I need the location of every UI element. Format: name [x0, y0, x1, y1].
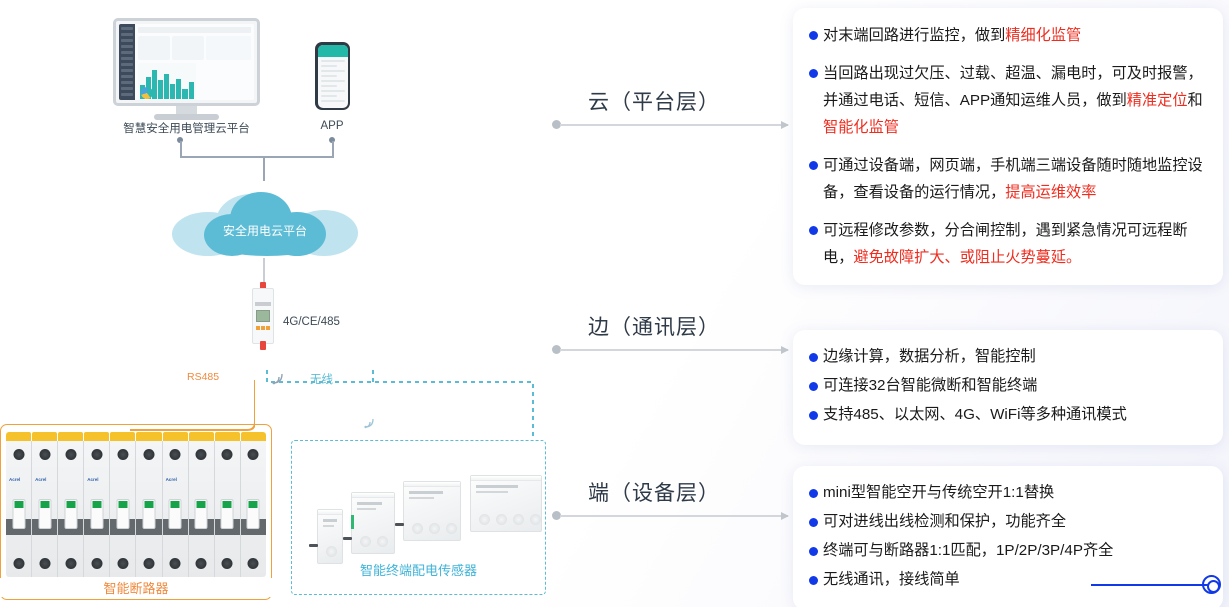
feature-item: 终端可与断路器1:1匹配，1P/2P/3P/4P齐全	[809, 538, 1205, 564]
feature-item: 支持485、以太网、4G、WiFi等多种通讯模式	[809, 402, 1205, 428]
normal-text: 和	[1188, 92, 1203, 109]
bullet-icon	[809, 518, 818, 527]
connector-cloud-to-gateway	[263, 258, 265, 284]
gateway-body	[252, 288, 274, 344]
bullet-icon	[809, 576, 818, 585]
feature-item-text: mini型智能空开与传统空开1:1替换	[823, 480, 1205, 506]
feature-item-text: 无线通讯，接线简单	[823, 567, 1205, 593]
feature-item: 边缘计算，数据分析，智能控制	[809, 344, 1205, 370]
connector-line-horizontal	[180, 156, 334, 158]
bullet-icon	[809, 353, 818, 362]
gateway-buttons	[256, 326, 270, 330]
wifi-signal-icon-secondary	[364, 418, 376, 429]
bullet-icon	[809, 31, 818, 40]
feature-item-text: 可对进线出线检测和保护，功能齐全	[823, 509, 1205, 535]
panel-cloud-features: 对末端回路进行监控，做到精细化监管当回路出现过欠压、过载、超温、漏电时，可及时报…	[793, 8, 1223, 285]
stage-arrow-device	[560, 515, 788, 517]
phone-screen	[318, 45, 348, 108]
highlight-text: 精细化监管	[1005, 27, 1081, 44]
bullet-icon	[809, 489, 818, 498]
normal-text: 支持485、以太网、4G、WiFi等多种通讯模式	[823, 406, 1127, 423]
dashboard-panel-blank	[198, 63, 252, 100]
feature-item-text: 可远程修改参数，分合闸控制，遇到紧急情况可远程断电，避免故障扩大、或阻止火势蔓延…	[823, 217, 1205, 271]
phone-header	[318, 45, 348, 57]
bullet-icon	[809, 382, 818, 391]
feature-item-text: 当回路出现过欠压、过载、超温、漏电时，可及时报警，并通过电话、短信、APP通知运…	[823, 60, 1205, 141]
feature-item: 当回路出现过欠压、过载、超温、漏电时，可及时报警，并通过电话、短信、APP通知运…	[809, 60, 1205, 141]
normal-text: 边缘计算，数据分析，智能控制	[823, 348, 1036, 365]
app-phone-image	[315, 42, 350, 110]
corner-accent-line	[1091, 584, 1209, 586]
connector-line-to-cloud	[263, 156, 265, 181]
gateway-terminal-bottom	[260, 341, 266, 350]
sensor-caption: 智能终端配电传感器	[291, 560, 546, 579]
bullet-icon	[809, 161, 818, 170]
bullet-icon	[809, 226, 818, 235]
bullet-icon	[809, 69, 818, 78]
wireless-label: 无线	[310, 371, 333, 387]
normal-text: 可对进线出线检测和保护，功能齐全	[823, 513, 1066, 530]
feature-item-text: 可通过设备端，网页端，手机端三端设备随时随地监控设备，查看设备的运行情况，提高运…	[823, 152, 1205, 206]
bullet-icon	[809, 411, 818, 420]
gateway-device-image	[252, 288, 274, 344]
feature-item-text: 支持485、以太网、4G、WiFi等多种通讯模式	[823, 402, 1205, 428]
smart-breaker-image: Acrel Acrel Acrel Acrel	[6, 432, 266, 577]
rs485-label: RS485	[187, 371, 219, 383]
feature-item: 可远程修改参数，分合闸控制，遇到紧急情况可远程断电，避免故障扩大、或阻止火势蔓延…	[809, 217, 1205, 271]
dashboard-topbar	[138, 27, 251, 33]
feature-item-text: 边缘计算，数据分析，智能控制	[823, 344, 1205, 370]
stage-label-cloud: 云（平台层）	[588, 86, 720, 116]
dashboard-pie-chart	[141, 87, 153, 99]
highlight-text: 避免故障扩大、或阻止火势蔓延。	[853, 249, 1081, 266]
dashboard-charts	[138, 63, 251, 100]
monitor-screen	[113, 18, 260, 106]
feature-item: 可对进线出线检测和保护，功能齐全	[809, 509, 1205, 535]
normal-text: 可连接32台智能微断和智能终端	[823, 377, 1037, 394]
cloud-shape: 安全用电云平台	[172, 180, 358, 256]
gateway-lcd-screen	[256, 310, 270, 322]
monitor-dashboard	[119, 24, 254, 100]
infographic-root: 智慧安全用电管理云平台 APP 安全用电云平台 4G/CE/485	[0, 0, 1229, 607]
dashboard-bar-chart	[138, 63, 196, 100]
highlight-text: 智能化监管	[823, 119, 899, 136]
normal-text: 终端可与断路器1:1匹配，1P/2P/3P/4P齐全	[823, 542, 1113, 559]
highlight-text: 提高运维效率	[1005, 184, 1096, 201]
highlight-text: 精准定位	[1127, 92, 1188, 109]
feature-item: 可通过设备端，网页端，手机端三端设备随时随地监控设备，查看设备的运行情况，提高运…	[809, 152, 1205, 206]
stage-arrow-cloud	[560, 124, 788, 126]
wireless-connection-path	[263, 368, 548, 448]
bullet-icon	[809, 547, 818, 556]
app-caption: APP	[300, 120, 364, 132]
dashboard-body	[135, 24, 254, 100]
platform-caption: 智慧安全用电管理云平台	[95, 120, 278, 136]
normal-text: 无线通讯，接线简单	[823, 571, 960, 588]
dashboard-kpi-cards	[138, 36, 251, 60]
cloud-platform-monitor-image	[113, 18, 260, 118]
corner-ring-icon	[1202, 575, 1221, 594]
panel-edge-features: 边缘计算，数据分析，智能控制可连接32台智能微断和智能终端支持485、以太网、4…	[793, 330, 1223, 445]
feature-item-text: 对末端回路进行监控，做到精细化监管	[823, 22, 1205, 49]
feature-item: 可连接32台智能微断和智能终端	[809, 373, 1205, 399]
breaker-pole-columns: Acrel Acrel Acrel Acrel	[6, 441, 266, 577]
breaker-caption: 智能断路器	[0, 578, 272, 597]
feature-item: 无线通讯，接线简单	[809, 567, 1205, 593]
cloud-label: 安全用电云平台	[172, 222, 358, 239]
normal-text: mini型智能空开与传统空开1:1替换	[823, 484, 1054, 501]
dashboard-sidebar	[119, 24, 135, 100]
feature-item: 对末端回路进行监控，做到精细化监管	[809, 22, 1205, 49]
normal-text: 对末端回路进行监控，做到	[823, 27, 1005, 44]
connector-line-app-down	[332, 141, 334, 157]
gateway-caption: 4G/CE/485	[283, 316, 340, 328]
feature-item-text: 可连接32台智能微断和智能终端	[823, 373, 1205, 399]
stage-arrow-edge	[560, 349, 788, 351]
stage-label-edge: 边（通讯层）	[588, 311, 720, 341]
feature-item: mini型智能空开与传统空开1:1替换	[809, 480, 1205, 506]
breaker-body: Acrel Acrel Acrel Acrel	[6, 441, 266, 577]
feature-item-text: 终端可与断路器1:1匹配，1P/2P/3P/4P齐全	[823, 538, 1205, 564]
connector-line-platform-down	[180, 141, 182, 157]
wifi-signal-icon	[272, 373, 286, 385]
stage-label-device: 端（设备层）	[588, 477, 720, 507]
